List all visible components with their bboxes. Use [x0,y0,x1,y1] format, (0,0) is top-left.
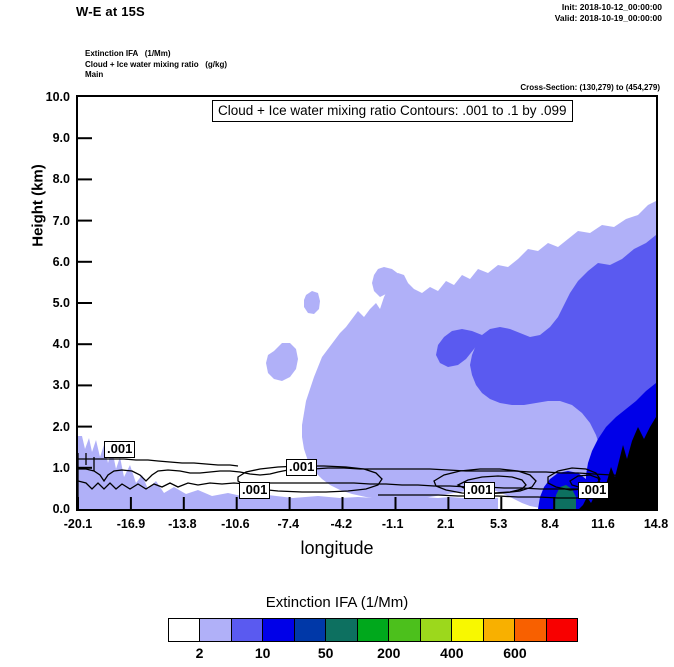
x-axis-tick-label: -13.8 [168,517,197,531]
colorbar-cell [484,619,515,641]
x-axis-tick-label: -7.4 [278,517,300,531]
page-title: W-E at 15S [76,4,145,19]
field-line-mixing-ratio: Cloud + Ice water mixing ratio (g/kg) [85,60,227,71]
y-axis-tick-label: 5.0 [53,296,70,310]
y-axis-tick-label: 2.0 [53,420,70,434]
cross-section-label: Cross-Section: (130,279) to (454,279) [520,83,660,92]
colorbar-cell [169,619,200,641]
y-axis-tick-label: 4.0 [53,337,70,351]
colorbar-tick-label: 2 [196,645,204,661]
field-line-domain: Main [85,70,227,81]
contour-label: .001 [578,482,609,499]
colorbar-tick-labels: 21050200400600 [0,645,674,665]
x-axis-tick-label: 14.8 [644,517,668,531]
y-axis-inner-ticks [78,138,92,468]
x-axis-tick-label: 2.1 [437,517,454,531]
colorbar-cell [326,619,357,641]
y-axis-tick-label: 7.0 [53,214,70,228]
y-axis-tick-label: 1.0 [53,461,70,475]
x-axis-tick-label: -20.1 [64,517,93,531]
y-axis-tick-label: 8.0 [53,172,70,186]
y-axis-tick-label: 3.0 [53,378,70,392]
cross-section-plot: Cloud + Ice water mixing ratio Contours:… [76,95,658,511]
x-axis-ticks: -20.1-16.9-13.8-10.6-7.4-4.2-1.12.15.38.… [0,517,674,535]
colorbar [168,618,578,642]
run-time-block: Init: 2018-10-12_00:00:00 Valid: 2018-10… [555,2,662,24]
colorbar-cell [295,619,326,641]
x-axis-tick-label: 8.4 [541,517,558,531]
colorbar-cell [515,619,546,641]
x-axis-tick-label: -10.6 [221,517,250,531]
colorbar-tick-label: 200 [377,645,400,661]
colorbar-cell [452,619,483,641]
colorbar-tick-label: 10 [255,645,271,661]
field-description-block: Extinction IFA (1/Mm) Cloud + Ice water … [85,49,227,81]
contour-label: .001 [464,482,495,499]
x-axis-tick-label: 5.3 [490,517,507,531]
contour-label: .001 [286,459,317,476]
contour-label: .001 [104,441,135,458]
colorbar-cell [421,619,452,641]
y-axis-label: Height (km) [30,116,47,296]
colorbar-tick-label: 600 [503,645,526,661]
colorbar-cell [232,619,263,641]
y-axis-tick-label: 6.0 [53,255,70,269]
colorbar-tick-label: 50 [318,645,334,661]
x-axis-tick-label: 11.6 [591,517,615,531]
valid-time: Valid: 2018-10-19_00:00:00 [555,13,662,24]
x-axis-tick-label: -16.9 [117,517,146,531]
contour-title-box: Cloud + Ice water mixing ratio Contours:… [212,100,573,122]
y-axis-tick-label: 0.0 [53,502,70,516]
colorbar-cell [547,619,577,641]
init-time: Init: 2018-10-12_00:00:00 [555,2,662,13]
field-line-extinction: Extinction IFA (1/Mm) [85,49,227,60]
colorbar-cell [200,619,231,641]
contour-label: .001 [239,482,270,499]
colorbar-cell [358,619,389,641]
x-axis-label: longitude [0,538,674,559]
y-axis-tick-label: 9.0 [53,131,70,145]
x-axis-tick-label: -4.2 [331,517,353,531]
x-axis-tick-label: -1.1 [382,517,404,531]
colorbar-cell [263,619,294,641]
cross-section-shading [78,97,656,509]
y-axis-tick-label: 10.0 [46,90,70,104]
colorbar-tick-label: 400 [440,645,463,661]
colorbar-title: Extinction IFA (1/Mm) [0,594,674,611]
colorbar-cell [389,619,420,641]
